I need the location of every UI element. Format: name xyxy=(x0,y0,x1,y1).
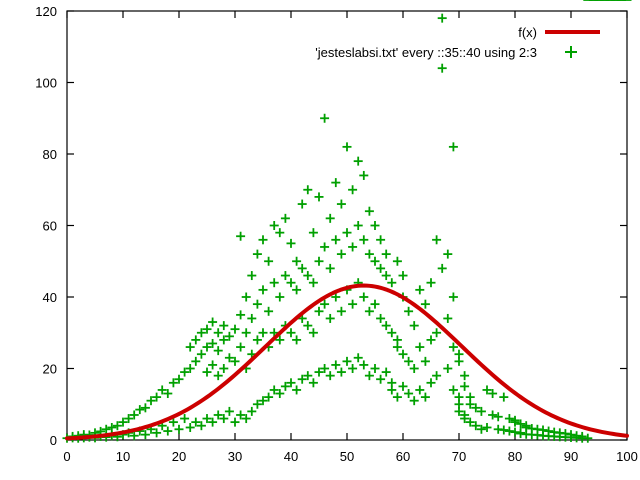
x-tick-label: 100 xyxy=(616,449,638,464)
y-tick-label: 40 xyxy=(43,290,57,305)
chart-canvas: 020406080100120 0102030405060708090100 f… xyxy=(0,0,640,480)
x-tick-label: 40 xyxy=(284,449,298,464)
y-tick-label: 60 xyxy=(43,219,57,234)
x-tick-label: 30 xyxy=(228,449,242,464)
x-tick-label: 90 xyxy=(564,449,578,464)
y-tick-label: 20 xyxy=(43,362,57,377)
y-tick-label: 120 xyxy=(35,4,57,19)
y-tick-label: 80 xyxy=(43,147,57,162)
gnuplot-plot-window: 020406080100120 0102030405060708090100 f… xyxy=(0,0,640,480)
chart-background xyxy=(0,0,640,480)
y-tick-label: 100 xyxy=(35,76,57,91)
x-tick-label: 80 xyxy=(508,449,522,464)
legend-label-datafile: 'jesteslabsi.txt' every ::35::40 using 2… xyxy=(315,45,537,60)
x-tick-label: 50 xyxy=(340,449,354,464)
x-tick-label: 20 xyxy=(172,449,186,464)
x-tick-label: 60 xyxy=(396,449,410,464)
x-tick-label: 0 xyxy=(63,449,70,464)
legend-label-fx: f(x) xyxy=(518,25,537,40)
y-tick-label: 0 xyxy=(50,433,57,448)
x-tick-label: 10 xyxy=(116,449,130,464)
x-tick-label: 70 xyxy=(452,449,466,464)
